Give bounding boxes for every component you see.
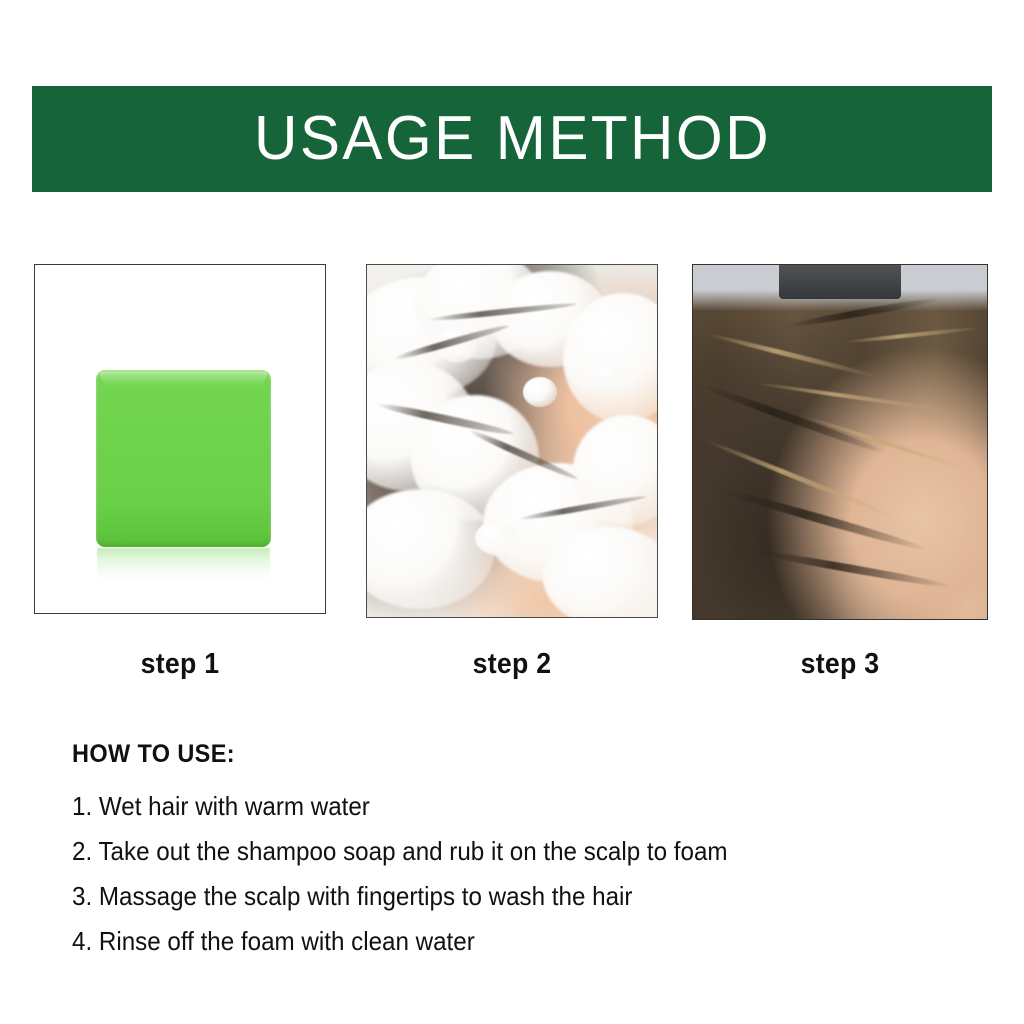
hair-strand [754, 548, 952, 591]
soap-bar-body [96, 370, 271, 547]
step-3-image-panel [692, 264, 988, 620]
soap-bar-reflection [97, 548, 270, 582]
hair-strand [754, 381, 953, 413]
how-to-use-step-3: 3. Massage the scalp with fingertips to … [72, 874, 909, 919]
how-to-use-step-2: 2. Take out the shampoo soap and rub it … [72, 829, 909, 874]
hair-washing-photo [367, 265, 657, 617]
page-title: USAGE METHOD [254, 108, 771, 170]
hair-strand [698, 381, 889, 457]
step-3-caption: step 3 [704, 644, 976, 684]
step-2-image-panel [366, 264, 658, 618]
foam-bubble [523, 377, 557, 407]
how-to-use-step-4: 4. Rinse off the foam with clean water [72, 919, 909, 964]
hair-strand [805, 415, 968, 471]
hair-strand [705, 331, 881, 379]
header-banner: USAGE METHOD [32, 86, 992, 192]
dark-object-top [779, 265, 901, 299]
step-1-image-panel [34, 264, 326, 614]
foam-bubble [475, 521, 519, 555]
foam-bubble [597, 361, 627, 389]
step-2-caption: step 2 [378, 644, 647, 684]
how-to-use-heading: HOW TO USE: [72, 740, 918, 769]
step-1-caption: step 1 [46, 644, 315, 684]
hair-strand [784, 295, 943, 330]
usage-method-infographic: USAGE METHOD [0, 0, 1024, 1024]
soap-bar-highlight [100, 372, 267, 386]
how-to-use-section: HOW TO USE: 1. Wet hair with warm water … [72, 740, 972, 964]
hair-strand [716, 485, 930, 554]
how-to-use-step-1: 1. Wet hair with warm water [72, 784, 909, 829]
hair-strand [843, 326, 983, 345]
clean-hair-scalp-photo [693, 265, 987, 619]
shampoo-soap-bar-illustration [96, 370, 271, 580]
